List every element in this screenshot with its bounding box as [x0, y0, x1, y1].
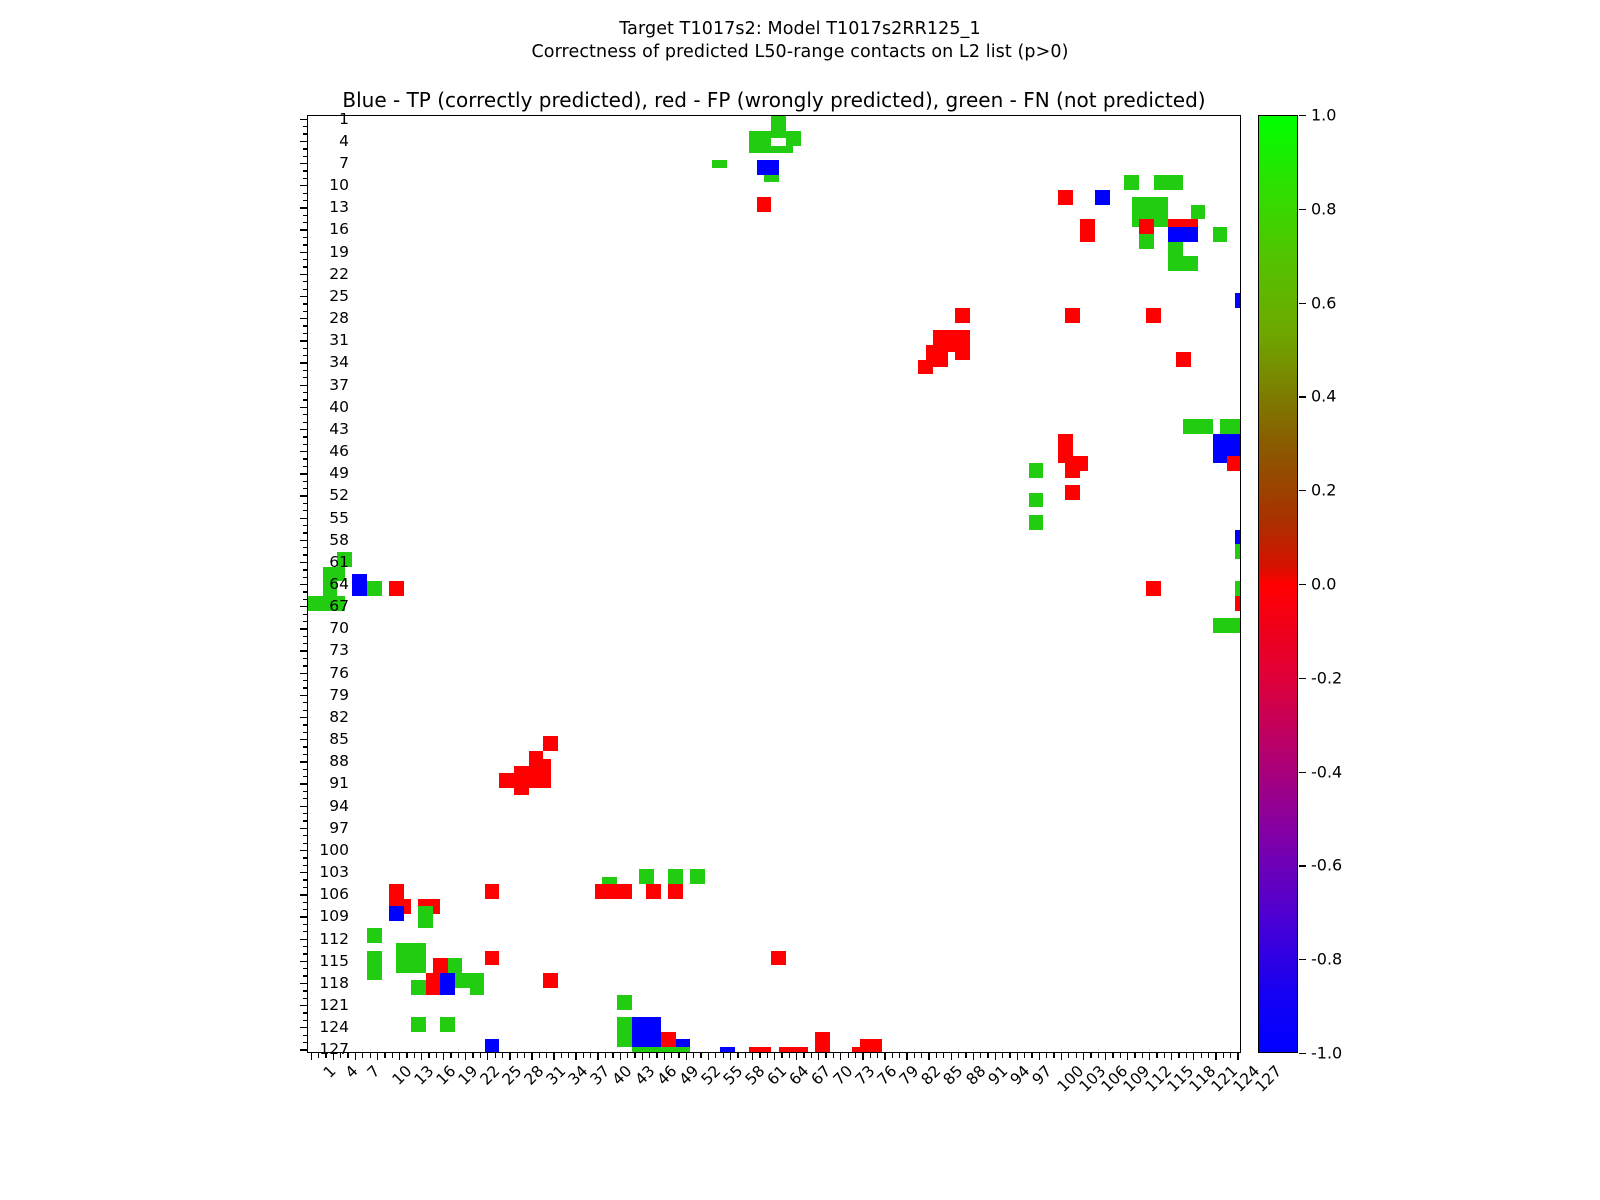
x-axis-tick-minor — [1076, 1053, 1077, 1058]
contact-cell-fn — [712, 160, 727, 167]
contact-cell-fp — [1058, 448, 1073, 463]
x-axis-tick-major — [884, 1053, 885, 1060]
y-axis-tick-minor — [303, 532, 308, 533]
x-axis-tick-minor — [384, 1053, 385, 1058]
y-axis-label: 112 — [319, 930, 349, 948]
y-axis-tick-minor — [303, 599, 308, 600]
y-axis-tick-major — [300, 451, 307, 452]
contact-cell-fn — [1168, 256, 1197, 271]
y-axis-tick-minor — [303, 510, 308, 511]
x-axis-tick-major — [730, 1053, 731, 1060]
x-axis-tick-minor — [980, 1053, 981, 1058]
y-axis-tick-major — [300, 385, 307, 386]
y-axis-tick-minor — [303, 769, 308, 770]
y-axis-label: 16 — [329, 220, 349, 238]
y-axis-tick-minor — [303, 569, 308, 570]
y-axis-label: 7 — [339, 154, 349, 172]
y-axis-tick-major — [300, 939, 307, 940]
colorbar-tick — [1299, 959, 1306, 960]
x-axis-tick-minor — [1120, 1053, 1121, 1058]
x-axis-tick-minor — [1024, 1053, 1025, 1058]
contact-cell-fn — [411, 980, 426, 995]
contact-cell-fp — [1080, 219, 1095, 241]
colorbar-tick — [1299, 678, 1306, 679]
contact-cell-fp — [948, 330, 970, 345]
y-axis-tick-major — [300, 1049, 307, 1050]
y-axis-tick-minor — [303, 1020, 308, 1021]
x-axis-tick-minor — [943, 1053, 944, 1058]
contact-cell-fn — [1235, 581, 1241, 596]
y-axis-label: 46 — [329, 442, 349, 460]
x-axis-tick-minor — [362, 1053, 363, 1058]
x-axis-tick-minor — [855, 1053, 856, 1058]
y-axis-tick-major — [300, 340, 307, 341]
y-axis-tick-minor — [303, 665, 308, 666]
x-axis-tick-minor — [825, 1053, 826, 1058]
colorbar-tick-label: 1.0 — [1311, 106, 1336, 125]
y-axis-tick-major — [300, 540, 307, 541]
y-axis-label: 49 — [329, 464, 349, 482]
contact-cell-tp — [352, 574, 367, 596]
x-axis-tick-major — [443, 1053, 444, 1060]
y-axis-label: 61 — [329, 553, 349, 571]
contact-cell-fp — [918, 360, 933, 375]
y-axis-tick-minor — [303, 614, 308, 615]
y-axis-tick-major — [300, 362, 307, 363]
y-axis-label: 19 — [329, 243, 349, 261]
x-axis-tick-minor — [656, 1053, 657, 1058]
x-axis-tick-minor — [781, 1053, 782, 1058]
contact-cell-fn — [1213, 618, 1228, 633]
x-axis-label: 4 — [342, 1062, 362, 1082]
x-axis-tick-major — [553, 1053, 554, 1060]
x-axis-tick-minor — [480, 1053, 481, 1058]
contact-cell-fn — [440, 1017, 455, 1032]
contact-cell-tp — [389, 906, 404, 921]
y-axis-tick-minor — [303, 414, 308, 415]
y-axis-label: 109 — [319, 907, 349, 925]
contact-cell-fn — [470, 980, 485, 995]
y-axis-tick-minor — [303, 244, 308, 245]
colorbar-tick-label: 0.4 — [1311, 387, 1336, 406]
colorbar-tick — [1299, 1053, 1306, 1054]
y-axis-tick-minor — [303, 200, 308, 201]
x-axis-tick-minor — [1068, 1053, 1069, 1058]
y-axis-tick-minor — [303, 311, 308, 312]
y-axis-tick-major — [300, 185, 307, 186]
y-axis-tick-minor — [303, 658, 308, 659]
x-axis-tick-major — [686, 1053, 687, 1060]
y-axis-label: 118 — [319, 974, 349, 992]
y-axis-tick-minor — [303, 1012, 308, 1013]
x-axis-tick-minor — [877, 1053, 878, 1058]
y-axis-tick-minor — [303, 776, 308, 777]
y-axis-tick-major — [300, 518, 307, 519]
x-axis-tick-minor — [737, 1053, 738, 1058]
x-axis-tick-minor — [1164, 1053, 1165, 1058]
x-axis-tick-major — [906, 1053, 907, 1060]
y-axis-tick-major — [300, 650, 307, 651]
contact-cell-fp — [1227, 456, 1241, 471]
figure-title-block: Target T1017s2: Model T1017s2RR125_1 Cor… — [0, 18, 1600, 65]
contact-cell-tp — [1235, 293, 1241, 308]
x-axis-tick-major — [1237, 1053, 1238, 1060]
y-axis-tick-major — [300, 495, 307, 496]
y-axis-tick-minor — [303, 843, 308, 844]
y-axis-tick-minor — [303, 591, 308, 592]
contact-cell-fp — [389, 581, 404, 596]
y-axis-tick-minor — [303, 746, 308, 747]
y-axis-label: 31 — [329, 331, 349, 349]
y-axis-tick-minor — [303, 266, 308, 267]
x-axis-tick-minor — [921, 1053, 922, 1058]
y-axis-tick-minor — [303, 178, 308, 179]
y-axis-label: 79 — [329, 686, 349, 704]
y-axis-tick-major — [300, 872, 307, 873]
y-axis-tick-minor — [303, 1035, 308, 1036]
y-axis-tick-minor — [303, 148, 308, 149]
y-axis-tick-minor — [303, 924, 308, 925]
y-axis-tick-major — [300, 916, 307, 917]
contact-cell-fn — [367, 951, 382, 981]
y-axis-tick-major — [300, 673, 307, 674]
y-axis-tick-minor — [303, 887, 308, 888]
y-axis-tick-major — [300, 296, 307, 297]
contact-cell-fp — [499, 773, 514, 788]
y-axis-tick-minor — [303, 968, 308, 969]
contact-cell-fn — [1235, 544, 1241, 559]
contact-cell-fp — [815, 1032, 830, 1047]
x-axis-tick-major — [1039, 1053, 1040, 1060]
contact-cell-fn — [668, 869, 683, 884]
y-axis-tick-minor — [303, 281, 308, 282]
contact-cell-fn — [308, 596, 323, 611]
x-axis-tick-minor — [745, 1053, 746, 1058]
contact-cell-fp — [1065, 308, 1080, 323]
y-axis-tick-major — [300, 229, 307, 230]
y-axis-label: 25 — [329, 287, 349, 305]
contact-cell-fp — [955, 308, 970, 323]
y-axis-tick-minor — [303, 377, 308, 378]
x-axis-tick-minor — [590, 1053, 591, 1058]
y-axis-tick-minor — [303, 724, 308, 725]
y-axis-tick-major — [300, 318, 307, 319]
x-axis-tick-minor — [1142, 1053, 1143, 1058]
x-axis-tick-major — [1061, 1053, 1062, 1060]
y-axis-tick-major — [300, 407, 307, 408]
y-axis-tick-minor — [303, 687, 308, 688]
x-axis-tick-minor — [965, 1053, 966, 1058]
x-axis-tick-minor — [899, 1053, 900, 1058]
legend-description: Blue - TP (correctly predicted), red - F… — [307, 88, 1241, 112]
x-axis-tick-major — [509, 1053, 510, 1060]
y-axis-tick-major — [300, 983, 307, 984]
contact-cell-fp — [1176, 352, 1191, 367]
y-axis-tick-major — [300, 252, 307, 253]
x-axis-tick-minor — [693, 1053, 694, 1058]
colorbar-tick — [1299, 772, 1306, 773]
y-axis-label: 1 — [339, 110, 349, 128]
y-axis-tick-major — [300, 717, 307, 718]
y-axis-tick-minor — [303, 1042, 308, 1043]
colorbar-tick-label: -0.2 — [1311, 668, 1342, 687]
contact-cell-fp — [433, 958, 448, 973]
y-axis-tick-minor — [303, 857, 308, 858]
x-axis-tick-major — [796, 1053, 797, 1060]
x-axis-tick-major — [487, 1053, 488, 1060]
y-axis-label: 76 — [329, 664, 349, 682]
contact-cell-fn — [690, 869, 705, 884]
contact-cell-fn — [771, 131, 786, 138]
x-axis-tick-minor — [605, 1053, 606, 1058]
y-axis-label: 4 — [339, 132, 349, 150]
y-axis-tick-major — [300, 806, 307, 807]
y-axis-label: 121 — [319, 996, 349, 1014]
x-axis-tick-minor — [723, 1053, 724, 1058]
y-axis-tick-minor — [303, 289, 308, 290]
x-axis-tick-major — [1105, 1053, 1106, 1060]
contact-cell-fp — [595, 884, 617, 899]
y-axis-tick-major — [300, 783, 307, 784]
colorbar-tick-label: 0.0 — [1311, 575, 1336, 594]
x-axis-tick-minor — [539, 1053, 540, 1058]
x-axis-tick-minor — [1090, 1053, 1091, 1058]
x-axis-tick-minor — [1201, 1053, 1202, 1058]
contact-cell-fn — [1213, 227, 1228, 242]
x-axis-tick-minor — [1031, 1053, 1032, 1058]
x-axis-tick-major — [995, 1053, 996, 1060]
contact-cell-fn — [367, 581, 382, 596]
y-axis-tick-major — [300, 119, 307, 120]
x-axis-tick-minor — [848, 1053, 849, 1058]
x-axis-tick-major — [818, 1053, 819, 1060]
x-axis-tick-major — [421, 1053, 422, 1060]
y-axis-tick-minor — [303, 126, 308, 127]
y-axis-label: 115 — [319, 952, 349, 970]
contact-cell-fn — [1154, 175, 1183, 190]
x-axis-tick-major — [752, 1053, 753, 1060]
contact-cell-fn — [749, 146, 793, 153]
x-axis-tick-major — [1127, 1053, 1128, 1060]
x-axis-tick-major — [465, 1053, 466, 1060]
contact-cell-fn — [1220, 419, 1241, 434]
x-axis-tick-major — [973, 1053, 974, 1060]
contact-cells-layer — [308, 116, 1240, 1052]
x-axis-tick-minor — [524, 1053, 525, 1058]
contact-cell-fp — [389, 884, 404, 899]
contact-cell-fp — [933, 352, 948, 367]
y-axis-tick-major — [300, 961, 307, 962]
y-axis-tick-minor — [303, 636, 308, 637]
x-axis-tick-major — [1193, 1053, 1194, 1060]
contact-cell-fn — [786, 131, 801, 146]
contact-cell-fp — [1235, 596, 1241, 611]
y-axis-tick-minor — [303, 791, 308, 792]
y-axis-tick-minor — [303, 680, 308, 681]
x-axis-tick-minor — [870, 1053, 871, 1058]
y-axis-label: 124 — [319, 1018, 349, 1036]
y-axis-tick-minor — [303, 333, 308, 334]
x-axis-tick-minor — [1112, 1053, 1113, 1058]
y-axis-tick-major — [300, 695, 307, 696]
colorbar-tick-label: -0.4 — [1311, 762, 1342, 781]
y-axis-tick-major — [300, 274, 307, 275]
x-axis-tick-minor — [561, 1053, 562, 1058]
y-axis-label: 22 — [329, 265, 349, 283]
colorbar-tick — [1299, 303, 1306, 304]
x-axis-tick-minor — [1098, 1053, 1099, 1058]
x-axis-tick-minor — [627, 1053, 628, 1058]
x-axis-tick-major — [951, 1053, 952, 1060]
contact-cell-fp — [1065, 485, 1080, 500]
colorbar — [1258, 115, 1298, 1053]
contact-cell-fp — [543, 736, 558, 751]
y-axis-label: 94 — [329, 797, 349, 815]
x-axis-tick-major — [708, 1053, 709, 1060]
y-axis-tick-minor — [303, 820, 308, 821]
y-axis-tick-minor — [303, 702, 308, 703]
contact-cell-tp — [485, 1039, 500, 1053]
x-axis-tick-minor — [1002, 1053, 1003, 1058]
contact-cell-fn — [1183, 419, 1212, 434]
x-axis-tick-minor — [612, 1053, 613, 1058]
y-axis-tick-minor — [303, 193, 308, 194]
contact-cell-fn — [411, 1017, 426, 1032]
colorbar-tick-label: -0.8 — [1311, 950, 1342, 969]
y-axis-tick-major — [300, 1027, 307, 1028]
y-axis-tick-major — [300, 562, 307, 563]
y-axis-tick-major — [300, 628, 307, 629]
contact-cell-fn — [617, 995, 632, 1010]
contact-cell-fp — [771, 951, 786, 966]
y-axis-tick-minor — [303, 946, 308, 947]
contact-cell-fn — [1029, 515, 1044, 530]
x-axis-tick-major — [1171, 1053, 1172, 1060]
y-axis-label: 70 — [329, 619, 349, 637]
contact-cell-fp — [543, 973, 558, 988]
x-axis-tick-minor — [634, 1053, 635, 1058]
y-axis-tick-minor — [303, 481, 308, 482]
x-axis-tick-major — [840, 1053, 841, 1060]
y-axis-tick-major — [300, 761, 307, 762]
x-axis-tick-minor — [958, 1053, 959, 1058]
y-axis-label: 100 — [319, 841, 349, 859]
colorbar-tick-label: 0.8 — [1311, 199, 1336, 218]
x-axis-tick-minor — [649, 1053, 650, 1058]
x-axis-tick-minor — [759, 1053, 760, 1058]
y-axis-tick-major — [300, 163, 307, 164]
x-axis-tick-minor — [671, 1053, 672, 1058]
y-axis-label: 85 — [329, 730, 349, 748]
contact-cell-fp — [1146, 308, 1161, 323]
y-axis-tick-major — [300, 473, 307, 474]
y-axis-tick-minor — [303, 732, 308, 733]
y-axis-label: 43 — [329, 420, 349, 438]
x-axis-tick-minor — [715, 1053, 716, 1058]
y-axis-label: 13 — [329, 198, 349, 216]
y-axis-tick-minor — [303, 953, 308, 954]
contact-cell-fn — [749, 131, 771, 146]
y-axis-label: 55 — [329, 509, 349, 527]
x-axis-tick-major — [575, 1053, 576, 1060]
y-axis-label: 10 — [329, 176, 349, 194]
contact-cell-tp — [757, 160, 779, 175]
contact-cell-fn — [764, 175, 779, 182]
y-axis-tick-minor — [303, 488, 308, 489]
contact-cell-fn — [771, 116, 786, 131]
x-axis-tick-minor — [1208, 1053, 1209, 1058]
x-axis-label: 1 — [320, 1062, 340, 1082]
x-axis-tick-minor — [583, 1053, 584, 1058]
y-axis-tick-minor — [303, 392, 308, 393]
y-axis-tick-minor — [303, 798, 308, 799]
y-axis-tick-minor — [303, 879, 308, 880]
x-axis-tick-minor — [892, 1053, 893, 1058]
contact-cell-fp — [668, 884, 683, 899]
y-axis-tick-minor — [303, 754, 308, 755]
x-axis-tick-major — [597, 1053, 598, 1060]
x-axis-tick-minor — [789, 1053, 790, 1058]
contact-cell-fp — [1058, 190, 1073, 205]
y-axis-tick-minor — [303, 990, 308, 991]
y-axis-label: 91 — [329, 774, 349, 792]
x-axis-tick-minor — [1186, 1053, 1187, 1058]
colorbar-tick-label: -1.0 — [1311, 1044, 1342, 1063]
x-axis-tick-major — [311, 1053, 312, 1060]
contact-cell-fn — [1124, 175, 1139, 190]
x-axis-tick-minor — [458, 1053, 459, 1058]
y-axis-tick-minor — [303, 525, 308, 526]
x-axis-tick-major — [664, 1053, 665, 1060]
x-axis-tick-minor — [414, 1053, 415, 1058]
contact-cell-tp — [1235, 530, 1241, 545]
y-axis-tick-minor — [303, 259, 308, 260]
y-axis-label: 40 — [329, 398, 349, 416]
x-axis-tick-major — [774, 1053, 775, 1060]
y-axis-label: 103 — [319, 863, 349, 881]
x-axis-tick-minor — [700, 1053, 701, 1058]
x-axis-tick-minor — [436, 1053, 437, 1058]
y-axis-tick-major — [300, 207, 307, 208]
y-axis-tick-minor — [303, 436, 308, 437]
y-axis-tick-minor — [303, 710, 308, 711]
x-axis-tick-minor — [502, 1053, 503, 1058]
y-axis-tick-major — [300, 606, 307, 607]
x-axis-tick-major — [1215, 1053, 1216, 1060]
y-axis-tick-major — [300, 739, 307, 740]
x-axis-tick-minor — [987, 1053, 988, 1058]
y-axis-tick-major — [300, 850, 307, 851]
y-axis-label: 52 — [329, 486, 349, 504]
x-axis-label: 7 — [364, 1062, 384, 1082]
y-axis-tick-minor — [303, 865, 308, 866]
x-axis-tick-major — [642, 1053, 643, 1060]
contact-cell-fp — [1146, 581, 1161, 596]
y-axis-label: 97 — [329, 819, 349, 837]
colorbar-tick — [1299, 209, 1306, 210]
x-axis-tick-minor — [803, 1053, 804, 1058]
y-axis-tick-major — [300, 429, 307, 430]
y-axis-tick-minor — [303, 813, 308, 814]
contact-cell-fn — [639, 869, 654, 884]
x-axis-tick-major — [862, 1053, 863, 1060]
y-axis-tick-minor — [303, 325, 308, 326]
y-axis-tick-minor — [303, 835, 308, 836]
x-axis-tick-minor — [833, 1053, 834, 1058]
contact-cell-tp — [1168, 227, 1197, 242]
contact-cell-fp — [617, 884, 632, 899]
y-axis-tick-minor — [303, 998, 308, 999]
